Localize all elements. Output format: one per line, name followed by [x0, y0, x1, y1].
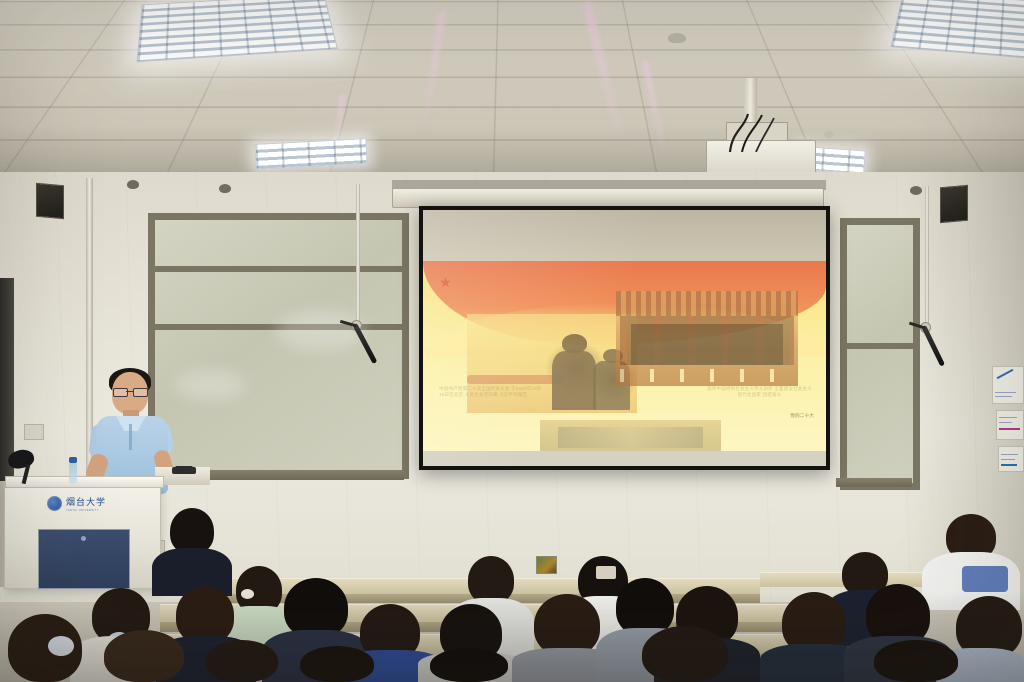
audience-head [642, 626, 728, 682]
blackboard-left [148, 213, 409, 479]
projection-screen-surface: ★ 中国共产党第二十次全国代表大会 于2022年10月16日在北京 人民大会堂开… [423, 210, 826, 466]
university-emblem-icon [47, 496, 62, 511]
wall-sticker [536, 556, 557, 574]
notice-poster-middle [996, 410, 1024, 440]
hanging-microphone-left-rod [356, 184, 360, 324]
screen-roller-housing [392, 188, 824, 208]
slide-text-right: 高举中国特色社会主义伟大旗帜 全面建设社会主义现代化国家 团结奋斗 [705, 386, 814, 398]
wall-speaker-left [36, 183, 64, 219]
audience-head [206, 640, 278, 682]
smoke-detector [668, 33, 686, 43]
presentation-slide: ★ 中国共产党第二十次全国代表大会 于2022年10月16日在北京 人民大会堂开… [423, 261, 826, 450]
audience-head [300, 646, 374, 682]
hair-tie [241, 589, 254, 599]
dome-camera-center [219, 184, 231, 193]
photo-great-hall [616, 291, 797, 386]
water-bottle-cap [69, 457, 77, 463]
glasses-icon [112, 388, 148, 395]
university-name-zh: 烟台大学 [66, 495, 106, 508]
blackboard-right-surface [847, 225, 913, 483]
projector-cables [722, 112, 782, 152]
hair-tie [48, 636, 74, 656]
notice-poster-top [992, 366, 1024, 404]
podium-microphone [8, 450, 38, 482]
slide-text-left: 中国共产党第二十次全国代表大会 于2022年10月16日在北京 人民大会堂开幕 … [439, 386, 544, 398]
notice-poster-bottom [998, 446, 1024, 472]
lectern[interactable]: 烟台大学 YANTAI UNIVERSITY [4, 481, 161, 589]
device-on-table [172, 467, 196, 474]
audience-head [468, 556, 514, 604]
slide-letterbox-bottom [423, 451, 826, 466]
audience-head [104, 630, 184, 682]
photo-cityscape [540, 420, 721, 450]
slide-letterbox-top [423, 210, 826, 266]
dome-camera-left [127, 180, 139, 189]
wall-outlet [24, 424, 44, 440]
audience-head [874, 640, 958, 682]
hair-clip [596, 566, 616, 579]
lecture-hall-photo: ★ 中国共产党第二十次全国代表大会 于2022年10月16日在北京 人民大会堂开… [0, 0, 1024, 682]
slide-signature: 党的二十大 [729, 413, 814, 419]
audience-head [534, 594, 600, 656]
audience-head [284, 578, 348, 638]
hanging-microphone-right-rod [925, 186, 929, 328]
blackboard-right [840, 218, 920, 490]
lectern-control-panel[interactable] [38, 529, 130, 589]
presenter-placket [129, 424, 132, 450]
dome-camera-right [910, 186, 922, 195]
party-emblem-icon: ★ [439, 274, 455, 290]
tshirt-graphic [962, 566, 1008, 592]
wall-speaker-right [940, 185, 968, 223]
water-bottle [69, 462, 77, 484]
university-name-en: YANTAI UNIVERSITY [66, 509, 106, 512]
panel-indicator [81, 536, 86, 541]
projection-screen[interactable]: ★ 中国共产党第二十次全国代表大会 于2022年10月16日在北京 人民大会堂开… [419, 206, 830, 470]
chalk-tray-right [836, 478, 912, 487]
audience-head [430, 648, 508, 682]
smoke-detector [824, 131, 834, 138]
university-logo: 烟台大学 YANTAI UNIVERSITY [47, 495, 106, 512]
